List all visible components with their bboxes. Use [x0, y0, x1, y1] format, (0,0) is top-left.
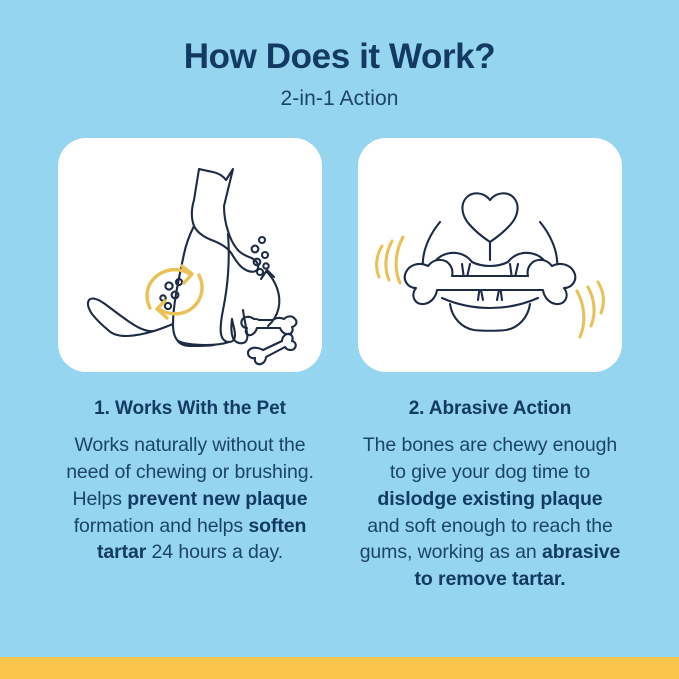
sitting-dog-illustration [58, 138, 322, 372]
illustration-card-abrasive-action [358, 138, 622, 372]
step-column-1: 1. Works With the Pet Works naturally wi… [58, 138, 322, 593]
page-title: How Does it Work? [0, 0, 679, 77]
infographic-page: How Does it Work? 2-in-1 Action [0, 0, 679, 679]
dog-snout-chewing-bone-illustration [358, 138, 622, 372]
steps-container: 1. Works With the Pet Works naturally wi… [58, 138, 622, 593]
page-subtitle: 2-in-1 Action [0, 77, 679, 111]
step-column-2: 2. Abrasive Action The bones are chewy e… [358, 138, 622, 593]
step-heading-2: 2. Abrasive Action [409, 372, 572, 421]
step-body-2: The bones are chewy enough to give your … [359, 421, 621, 593]
step-heading-1: 1. Works With the Pet [94, 372, 286, 421]
illustration-card-works-with-the-pet [58, 138, 322, 372]
bottom-accent-bar [0, 657, 679, 679]
header: How Does it Work? 2-in-1 Action [0, 0, 679, 111]
step-body-1: Works naturally without the need of chew… [59, 421, 321, 567]
